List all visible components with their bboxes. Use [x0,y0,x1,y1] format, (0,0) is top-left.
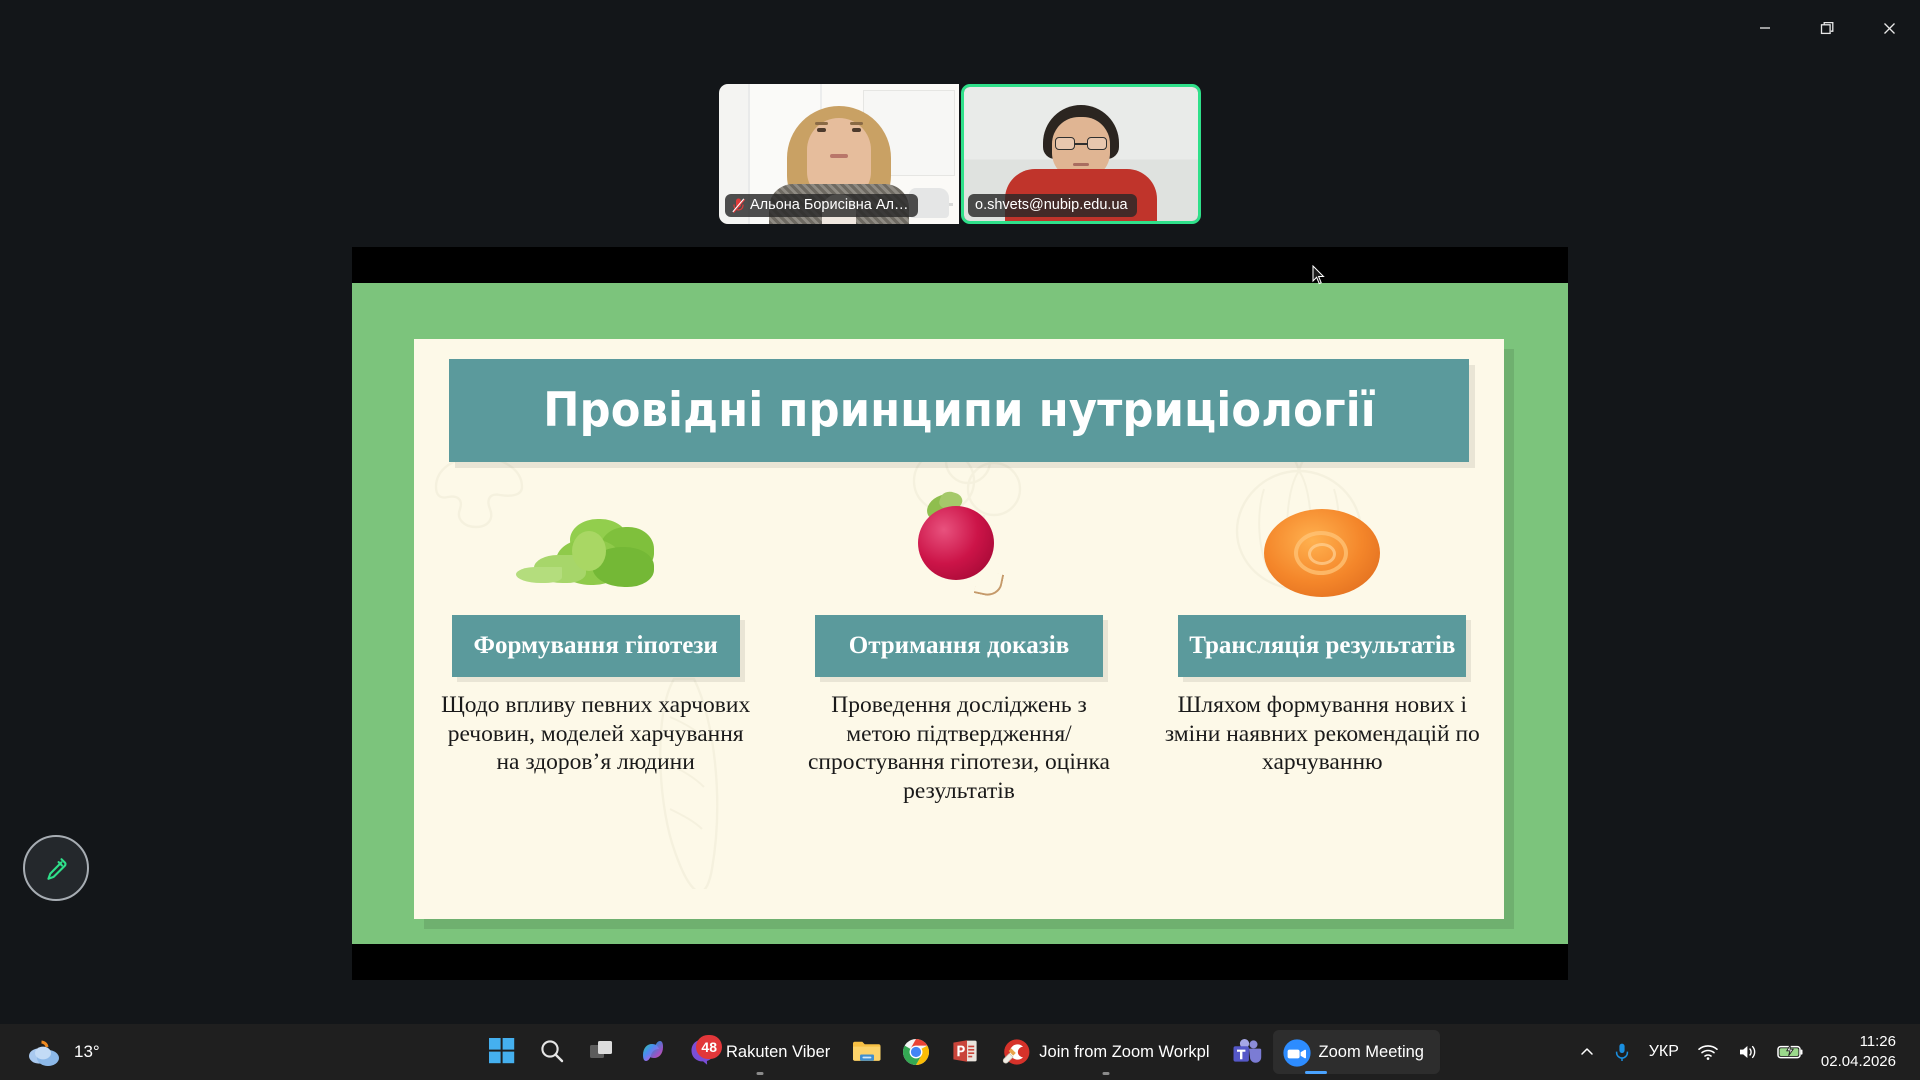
column-3-heading: Трансляція результатів [1178,615,1466,677]
slide-column-3: Трансляція результатів Шляхом формування… [1162,487,1482,777]
weather-widget[interactable]: 13° [22,1034,222,1070]
search-button[interactable] [530,1030,576,1074]
taskbar-clock[interactable]: 11:26 02.04.2026 [1815,1030,1908,1074]
presentation-slide: Провідні принципи нутриціології [352,283,1568,944]
pencil-icon [41,853,71,883]
taskbar-label-ccleaner: Join from Zoom Workpl [1039,1043,1209,1062]
shared-screen-area: Провідні принципи нутриціології [352,247,1568,980]
task-view-button[interactable] [580,1030,626,1074]
tray-battery[interactable] [1769,1032,1813,1072]
participant-tile-1[interactable]: Альона Борисівна Ал… [719,84,959,224]
task-view-icon [589,1038,617,1066]
tray-microphone[interactable] [1605,1032,1639,1072]
slide-title-text: Провідні принципи нутриціології [543,383,1376,438]
participant-filmstrip: Альона Борисівна Ал… o.shvets@nubip.edu.… [719,84,1201,224]
chevron-up-icon [1579,1044,1595,1060]
taskbar-label-viber: Rakuten Viber [726,1043,830,1062]
column-2-heading-text: Отримання доказів [849,632,1069,660]
slide-column-1: Формування гіпотези Щодо впливу певних х… [436,487,756,777]
column-2-body: Проведення досліджень з метою підтвердже… [799,691,1119,806]
slide-columns: Формування гіпотези Щодо впливу певних х… [414,487,1504,806]
column-3-body: Шляхом формування нових і зміни наявних … [1162,691,1482,777]
slide-title: Провідні принципи нутриціології [449,359,1469,462]
taskbar-item-file-explorer[interactable] [843,1030,889,1074]
participant-1-name: Альона Борисівна Ал… [750,197,909,213]
tray-overflow-chevron[interactable] [1571,1032,1603,1072]
viber-unread-badge: 48 [696,1035,722,1059]
tray-language[interactable]: УКР [1641,1032,1687,1072]
window-controls [1734,0,1920,56]
clock-time: 11:26 [1860,1032,1896,1052]
column-2-heading: Отримання доказів [815,615,1103,677]
zoom-meeting-window: Альона Борисівна Ал… o.shvets@nubip.edu.… [0,0,1920,1024]
taskbar-item-chrome[interactable] [893,1030,939,1074]
mic-muted-icon [732,198,745,213]
tray-wifi[interactable] [1689,1032,1727,1072]
taskbar-item-powerpoint[interactable] [943,1030,989,1074]
taskbar-label-zoom: Zoom Meeting [1319,1043,1424,1062]
column-1-body: Щодо впливу певних харчових речовин, мод… [436,691,756,777]
teams-icon [1232,1038,1260,1066]
weather-temp: 13° [74,1042,100,1062]
windows-logo-icon [489,1038,517,1066]
clock-date: 02.04.2026 [1821,1052,1896,1072]
chrome-icon [902,1038,930,1066]
taskbar-item-ccleaner[interactable]: Join from Zoom Workpl [993,1030,1218,1074]
slide-column-2: Отримання доказів Проведення досліджень … [799,487,1119,806]
copilot-button[interactable] [630,1030,676,1074]
lettuce-leaf-image [516,487,676,597]
wifi-icon [1697,1043,1719,1061]
radish-image [914,487,1004,597]
participant-2-name: o.shvets@nubip.edu.ua [975,197,1128,213]
microphone-icon [1613,1042,1631,1062]
column-3-heading-text: Трансляція результатів [1189,632,1455,660]
carrot-slice-image [1264,487,1380,597]
ccleaner-icon [1002,1038,1030,1066]
folder-icon [852,1038,880,1066]
volume-icon [1737,1043,1759,1061]
taskbar-item-teams[interactable] [1223,1030,1269,1074]
search-icon [539,1038,567,1066]
column-1-heading: Формування гіпотези [452,615,740,677]
zoom-icon [1282,1038,1310,1066]
restore-button[interactable] [1796,5,1858,51]
taskbar-app-area: 48 Rakuten Viber [480,1030,1440,1074]
windows-taskbar: 13° [0,1024,1920,1080]
system-tray: УКР 11:26 02.04.2026 [1571,1024,1920,1080]
tray-volume[interactable] [1729,1032,1767,1072]
participant-2-label: o.shvets@nubip.edu.ua [968,194,1137,217]
taskbar-item-viber[interactable]: 48 Rakuten Viber [680,1030,839,1074]
close-button[interactable] [1858,5,1920,51]
minimize-button[interactable] [1734,5,1796,51]
column-1-heading-text: Формування гіпотези [474,632,718,660]
taskbar-item-zoom-meeting[interactable]: Zoom Meeting [1273,1030,1440,1074]
participant-1-label: Альона Борисівна Ал… [725,194,918,217]
annotation-pencil-button[interactable] [23,835,89,901]
cloudy-icon [22,1034,68,1070]
participant-tile-2[interactable]: o.shvets@nubip.edu.ua [961,84,1201,224]
battery-charging-icon [1777,1043,1805,1061]
copilot-icon [639,1038,667,1066]
viber-icon: 48 [689,1038,717,1066]
start-button[interactable] [480,1030,526,1074]
slide-card: Провідні принципи нутриціології [414,339,1504,919]
powerpoint-icon [952,1038,980,1066]
